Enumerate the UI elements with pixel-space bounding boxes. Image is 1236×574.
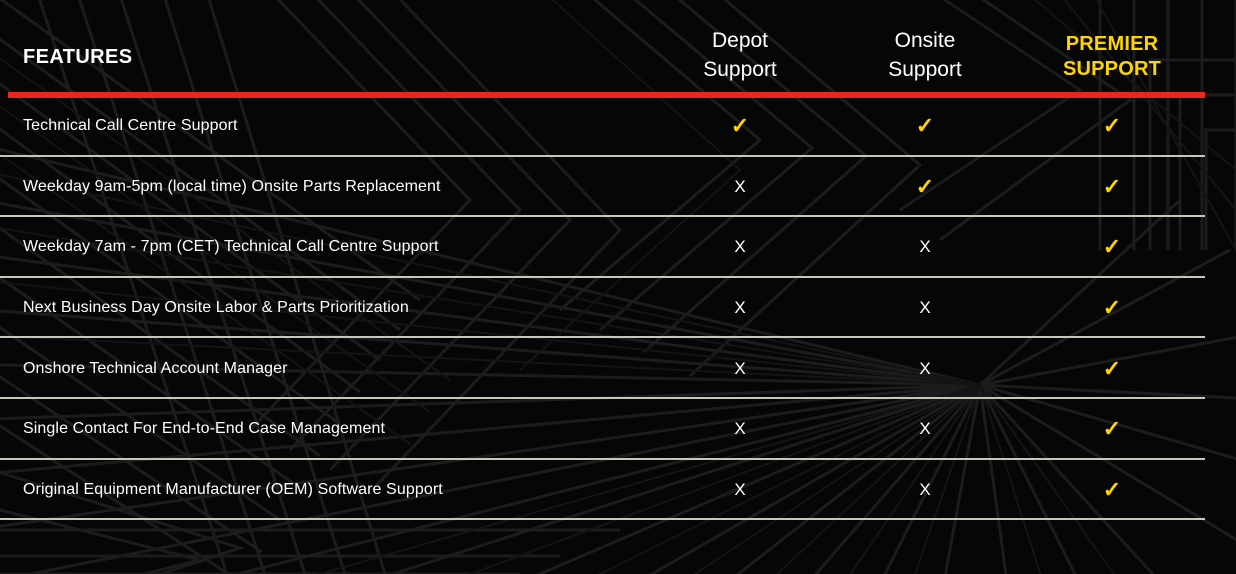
cross-icon-onsite-support: X [865,480,985,500]
checkmark-icon-premier-support: ✓ [1052,116,1172,136]
table-row: Weekday 9am-5pm (local time) Onsite Part… [0,157,1236,218]
table-row: Single Contact For End-to-End Case Manag… [0,399,1236,460]
table-row: Technical Call Centre Support✓✓✓ [0,96,1236,157]
checkmark-icon-depot-support: ✓ [680,116,800,136]
column-header-premier-support-line1: PREMIER [1066,33,1159,55]
feature-label: Original Equipment Manufacturer (OEM) So… [23,481,443,499]
cross-icon-depot-support: X [680,237,800,257]
cross-icon-onsite-support: X [865,237,985,257]
row-divider [0,518,1205,520]
column-header-depot-support-line1: Depot [712,29,768,52]
checkmark-icon-premier-support: ✓ [1052,177,1172,197]
cross-icon-depot-support: X [680,298,800,318]
table-row: Next Business Day Onsite Labor & Parts P… [0,278,1236,339]
column-header-premier-support: PREMIER SUPPORT [1012,32,1212,82]
feature-label: Next Business Day Onsite Labor & Parts P… [23,299,409,317]
cross-icon-depot-support: X [680,359,800,379]
cross-icon-onsite-support: X [865,298,985,318]
cross-icon-onsite-support: X [865,359,985,379]
header-accent-rule [8,92,1205,98]
column-header-premier-support-line2: SUPPORT [1012,57,1212,82]
feature-label: Single Contact For End-to-End Case Manag… [23,420,385,438]
cross-icon-depot-support: X [680,419,800,439]
feature-label: Weekday 7am - 7pm (CET) Technical Call C… [23,238,439,256]
column-header-onsite-support-line1: Onsite [895,29,956,52]
feature-label: Weekday 9am-5pm (local time) Onsite Part… [23,178,441,196]
checkmark-icon-premier-support: ✓ [1052,237,1172,257]
feature-comparison-table: FEATURES Depot Support Onsite Support PR… [0,0,1236,574]
table-row: Onshore Technical Account ManagerXX✓ [0,338,1236,399]
feature-rows: Technical Call Centre Support✓✓✓Weekday … [0,96,1236,520]
features-column-heading: FEATURES [23,46,133,69]
table-row: Original Equipment Manufacturer (OEM) So… [0,460,1236,521]
cross-icon-onsite-support: X [865,419,985,439]
support-comparison-page: FEATURES Depot Support Onsite Support PR… [0,0,1236,574]
table-header: FEATURES Depot Support Onsite Support PR… [0,0,1236,96]
checkmark-icon-onsite-support: ✓ [865,177,985,197]
feature-label: Onshore Technical Account Manager [23,360,288,378]
cross-icon-depot-support: X [680,177,800,197]
checkmark-icon-premier-support: ✓ [1052,419,1172,439]
checkmark-icon-premier-support: ✓ [1052,359,1172,379]
checkmark-icon-premier-support: ✓ [1052,298,1172,318]
column-header-onsite-support-line2: Support [825,55,1025,84]
table-row: Weekday 7am - 7pm (CET) Technical Call C… [0,217,1236,278]
column-header-depot-support: Depot Support [640,26,840,84]
checkmark-icon-premier-support: ✓ [1052,480,1172,500]
feature-label: Technical Call Centre Support [23,117,238,135]
column-header-depot-support-line2: Support [640,55,840,84]
checkmark-icon-onsite-support: ✓ [865,116,985,136]
cross-icon-depot-support: X [680,480,800,500]
column-header-onsite-support: Onsite Support [825,26,1025,84]
